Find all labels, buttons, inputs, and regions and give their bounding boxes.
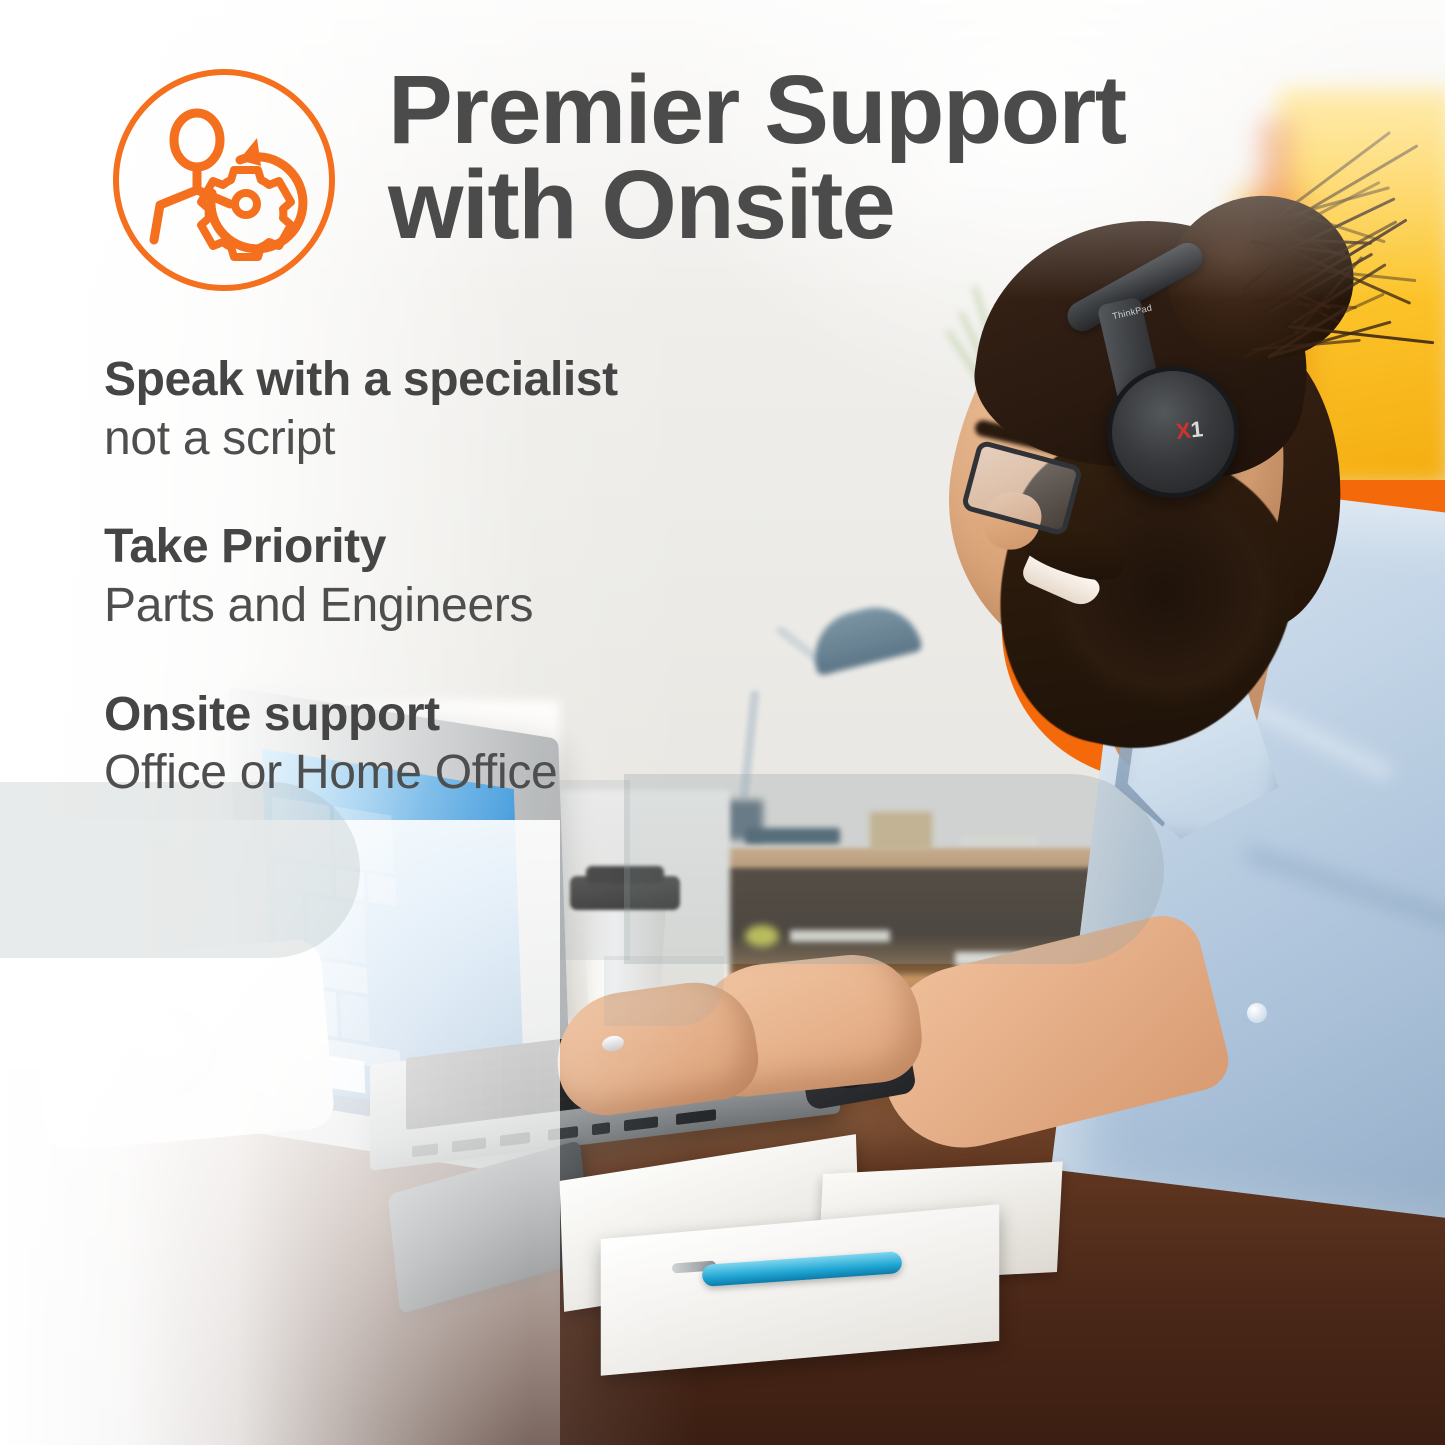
feature-title: Take Priority	[104, 519, 844, 575]
feature-list: Speak with a specialist not a script Tak…	[104, 352, 844, 854]
feature-item-priority: Take Priority Parts and Engineers	[104, 519, 844, 634]
promo-content: Premier Support with Onsite Speak with a…	[0, 0, 1445, 1445]
headline-line-2: with Onsite	[388, 150, 894, 259]
headline-line-1: Premier Support	[388, 55, 1126, 164]
person-gear-refresh-icon	[108, 64, 340, 296]
feature-title: Onsite support	[104, 687, 844, 743]
feature-subtitle: Office or Home Office	[104, 744, 844, 802]
feature-item-specialist: Speak with a specialist not a script	[104, 352, 844, 467]
feature-title: Speak with a specialist	[104, 352, 844, 408]
feature-item-onsite: Onsite support Office or Home Office	[104, 687, 844, 802]
feature-subtitle: not a script	[104, 410, 844, 468]
promo-banner: ThinkPad X1	[0, 0, 1445, 1445]
feature-subtitle: Parts and Engineers	[104, 577, 844, 635]
page-title: Premier Support with Onsite	[388, 62, 1288, 252]
